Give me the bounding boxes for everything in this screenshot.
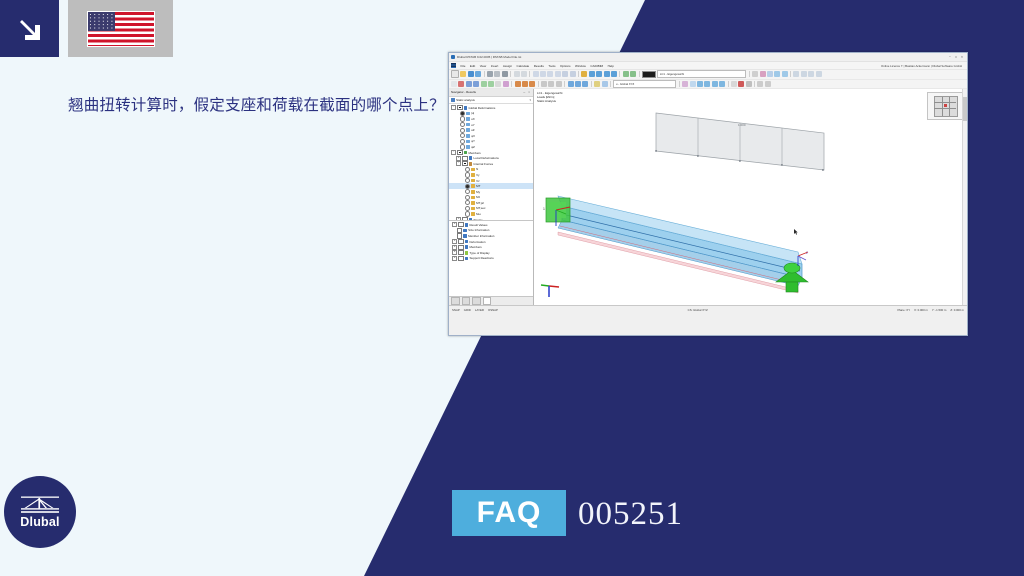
tree-checkbox[interactable] [457,105,462,110]
faq-badge: FAQ [452,490,566,536]
result-values-icon[interactable] [712,81,718,87]
scrollbar-thumb[interactable] [963,97,967,121]
minimize-button[interactable]: − [949,55,951,59]
status-toggle-osnap[interactable]: OSNAP [488,308,498,312]
expander-icon[interactable]: - [451,105,456,110]
result-icon [466,112,470,116]
navigator-title: Navigator - Results [451,90,476,94]
type-of-display-icon [465,251,469,255]
render-solid-icon[interactable] [623,71,629,77]
result-icon [471,196,475,200]
size-information-icon [463,229,467,233]
result-type-combo[interactable]: u - Global XYZ [613,80,676,88]
member-load-icon[interactable] [529,81,535,87]
view-iso-icon[interactable] [816,71,822,77]
save-as-icon[interactable] [475,71,481,77]
rstab-application-window[interactable]: Dlubal RSTAB 9.02.0005 | RSTAB Model Fil… [448,52,968,336]
result-icon [471,184,475,188]
license-info: Online Licence 'I' | Bastian Ackermann |… [881,64,965,68]
flag-canton [88,12,115,31]
views-navigator-tab[interactable] [472,297,481,305]
tree-checkbox[interactable] [458,239,463,244]
tree-item-label: φZ [471,145,475,149]
tree-item-label: Internal Forces [474,162,494,166]
display-item-support-reactions[interactable]: + Support Reactions [449,256,533,262]
tree-item-label: φY [471,139,475,143]
close-button[interactable]: × [961,55,963,59]
deformation-icon [465,240,469,244]
expander-icon[interactable]: + [452,250,457,255]
status-coord-z: Z: 0.000 m [950,308,964,312]
zoom-all-icon[interactable] [611,71,617,77]
arrow-down-right-icon [0,0,59,57]
display-item-label: Support Reactions [470,256,494,260]
menu-item-edit[interactable]: Edit [470,64,475,68]
tree-item-label: N [476,167,478,171]
view-side-icon[interactable] [808,71,814,77]
results-tree[interactable]: - Global Deformations |u| uX [449,104,533,220]
viewport-info-analysis: Static Analysis [537,99,562,103]
tree-item-label: uY [471,123,475,127]
tree-item-label: Global Deformations [469,106,496,110]
tree-checkbox[interactable] [458,250,463,255]
tree-item-label: Local Deformations [474,156,499,160]
load-case-combo[interactable]: LC1 - Eigengewicht [657,70,746,78]
result-icon [471,179,475,183]
tree-item-label: My [476,190,480,194]
results-navigator-panel[interactable]: Navigator - Results ⌐ × Static analysis … [449,89,534,305]
snap-icon[interactable] [568,81,574,87]
tree-item-label: |u| [471,111,474,115]
tree-item-label: uZ [471,128,474,132]
zoom-out-icon[interactable] [596,71,602,77]
member-information-icon [463,234,467,238]
surface-icon[interactable] [481,81,487,87]
support-reactions-icon [465,257,469,261]
result-icon [471,168,475,172]
results-scale-icon[interactable] [760,71,766,77]
question-headline: 翘曲扭转计算时，假定支座和荷载在截面的哪个点上？ [68,96,438,117]
project-navigator-tab[interactable] [451,297,460,305]
menu-item-calculate[interactable]: Calculate [517,64,530,68]
result-icon [471,201,475,205]
visibility-icon[interactable] [594,81,600,87]
result-icon [466,145,470,149]
faq-number: 005251 [578,491,683,537]
result-icon [471,190,475,194]
toolbar-primary[interactable]: LC1 - Eigengewicht [449,70,967,80]
tree-item-label: MT [476,184,480,188]
menu-item-tools[interactable]: Tools [548,64,555,68]
tree-item-label: Vy [476,173,479,177]
delete-icon[interactable] [738,81,744,87]
table-loads-icon[interactable] [562,71,568,77]
isolines-icon[interactable] [682,81,688,87]
tree-radio[interactable] [465,172,470,177]
expander-icon[interactable]: + [452,239,457,244]
analysis-type-icon [451,98,455,102]
status-coord-y: Y: -1.500 m [932,308,947,312]
open-icon[interactable] [460,71,466,77]
status-coordinate-system: CS: Global XYZ [688,308,708,312]
result-icon [471,207,475,211]
menu-item-results[interactable]: Results [534,64,544,68]
result-icon [471,212,475,216]
status-plane: Plane: XY [897,308,910,312]
result-icon [466,140,470,144]
display-properties-icon[interactable] [752,71,758,77]
dlubal-menu-icon [451,63,456,67]
results-navigator-tab[interactable] [483,297,492,305]
toolbar-secondary[interactable]: u - Global XYZ [449,80,967,90]
tree-checkbox[interactable] [457,228,462,233]
dimension-icon[interactable] [541,81,547,87]
tree-item-label: Members [469,151,481,155]
tree-radio[interactable] [465,211,470,216]
menu-item-cadbim[interactable]: CAD/BIM [590,64,603,68]
tree-item-label: Mω [476,212,481,216]
tree-radio[interactable] [460,144,465,149]
tree-checkbox[interactable] [457,150,462,155]
menu-item-view[interactable]: View [480,64,487,68]
line-icon[interactable] [466,81,472,87]
viewport-info-labels: LC1 - Eigengewicht Loads [kN/m] Static A… [537,91,562,104]
print-icon[interactable] [487,71,493,77]
axis-triad-icon [540,281,562,299]
support-icon[interactable] [503,81,509,87]
tree-item-label: Vz [476,179,479,183]
nodal-load-icon[interactable] [515,81,521,87]
view-cube-icon[interactable] [927,92,963,120]
tree-item-label: Mz [476,195,480,199]
internal-forces-icon [469,162,473,166]
navigator-header: Navigator - Results ⌐ × [449,89,533,97]
line-load-icon[interactable] [522,81,528,87]
print-preview-icon[interactable] [494,71,500,77]
deformation-icon[interactable] [774,71,780,77]
display-item-label: Type of Display [470,251,490,255]
ortho-icon[interactable] [575,81,581,87]
menu-item-insert[interactable]: Insert [491,64,499,68]
navigator-combo-chevron-down-icon[interactable]: ▾ [530,98,531,102]
display-item-label: Result Values [470,223,488,227]
local-deformation-icon [469,156,473,160]
view-top-icon[interactable] [801,71,807,77]
dlubal-logo-text: Dlubal [20,515,59,529]
expander-icon[interactable]: + [452,222,457,227]
status-toggle-layer[interactable]: LAYER [475,308,484,312]
max-min-icon[interactable] [719,81,725,87]
expander-icon[interactable]: + [456,156,461,161]
opening-icon[interactable] [495,81,501,87]
filter-icon[interactable] [767,71,773,77]
svg-text:1: 1 [543,207,545,211]
measure-icon[interactable] [548,81,554,87]
table-results-icon[interactable] [547,71,553,77]
result-values-icon [465,223,469,227]
text-note-icon[interactable] [556,81,562,87]
menu-item-window[interactable]: Window [575,64,586,68]
undo-icon[interactable] [514,71,520,77]
surface-model-graphic: 1.000 [654,107,829,192]
zoom-in-icon[interactable] [589,71,595,77]
smooth-results-icon[interactable] [704,81,710,87]
result-icon [466,117,470,121]
view-front-icon[interactable] [793,71,799,77]
tree-radio[interactable] [460,128,465,133]
display-item-label: Members [470,245,482,249]
tree-checkbox[interactable] [458,256,463,261]
navigator-pin-close-icons[interactable]: ⌐ × [524,90,531,94]
help-tool-icon[interactable] [765,81,771,87]
tree-radio[interactable] [460,116,465,121]
status-toggle-grid[interactable]: GRID [464,308,471,312]
beam-member-graphic: 1 2 [540,194,840,294]
svg-text:1.000: 1.000 [738,123,746,127]
result-icon [471,173,475,177]
navigator-tabs[interactable] [449,296,533,305]
dlubal-logo: Dlubal [4,476,76,548]
expander-icon[interactable]: - [451,150,456,155]
tree-item-label: φX [471,134,475,138]
maximize-button[interactable]: □ [955,55,957,59]
display-item-label: Deformation [470,240,486,244]
tree-checkbox[interactable] [458,222,463,227]
app-titlebar: Dlubal RSTAB 9.02.0005 | RSTAB Model Fil… [449,53,967,62]
tree-checkbox[interactable] [462,156,467,161]
result-icon [466,123,470,127]
grid-snap-icon[interactable] [582,81,588,87]
color-swatch[interactable] [642,71,656,78]
layer-icon[interactable] [602,81,608,87]
grid-table-icon[interactable] [533,71,539,77]
table-icon[interactable] [540,71,546,77]
menu-item-options[interactable]: Options [560,64,571,68]
section-cut-icon[interactable] [782,71,788,77]
select-icon[interactable] [451,81,457,87]
settings-icon[interactable] [757,81,763,87]
print-region-icon[interactable] [746,81,752,87]
display-item-label: Size Information [468,228,489,232]
tree-radio[interactable] [465,184,470,189]
render-wire-icon[interactable] [630,71,636,77]
faq-slide: 翘曲扭转计算时，假定支座和荷载在截面的哪个点上？ Dlubal FAQ 0052… [0,0,1024,576]
view-cube-line [934,102,956,103]
app-statusbar[interactable]: SNAP GRID LAYER OSNAP CS: Global XYZ Pla… [449,305,967,314]
result-icon [466,128,470,132]
viewport-vertical-scrollbar[interactable] [962,89,967,305]
expander-icon[interactable]: - [456,161,461,166]
calculate-icon[interactable] [581,71,587,77]
navigator-combo-label: Static analysis [456,98,475,102]
table-sections-icon[interactable] [555,71,561,77]
expander-icon[interactable]: + [452,256,457,261]
tree-item-label: MT,pri [476,201,484,205]
display-item-label: Member Information [468,234,494,238]
result-icon [466,134,470,138]
solid-icon[interactable] [488,81,494,87]
tree-checkbox[interactable] [462,161,467,166]
members-icon [465,245,469,249]
truss-frame-icon [21,496,59,513]
menu-item-file[interactable]: File [461,64,466,68]
redo-icon[interactable] [521,71,527,77]
tree-checkbox[interactable] [458,245,463,250]
expander-icon[interactable]: + [452,245,457,250]
status-coord-x: X: 0.000 m [914,308,928,312]
menu-item-help[interactable]: Help [608,64,614,68]
menu-item-assign[interactable]: Assign [503,64,512,68]
pointer-cursor-icon [794,229,798,235]
zoom-window-icon[interactable] [604,71,610,77]
save-icon[interactable] [468,71,474,77]
app-workarea: Navigator - Results ⌐ × Static analysis … [449,89,967,305]
display-navigator-tree[interactable]: + Result Values Size Information Member … [449,220,533,296]
faq-badge-label: FAQ [477,496,542,530]
flag-stars [89,13,114,30]
table-summary-icon[interactable] [570,71,576,77]
model-viewport-3d[interactable]: LC1 - Eigengewicht Loads [kN/m] Static A… [534,89,967,305]
app-menubar[interactable]: File Edit View Insert Assign Calculate R… [449,62,967,70]
tree-item-label: MT,sec [476,206,485,210]
display-navigator-tab[interactable] [462,297,471,305]
tree-item-label: uX [471,117,475,121]
flag-graphic [87,11,155,47]
member-icon[interactable] [473,81,479,87]
svg-text:2: 2 [806,251,808,255]
isobands-icon[interactable] [690,81,696,87]
app-title: Dlubal RSTAB 9.02.0005 | RSTAB Model Fil… [457,55,521,59]
new-icon[interactable] [451,70,459,78]
members-group-icon [464,151,468,155]
clipping-icon[interactable] [731,81,737,87]
tree-radio[interactable] [465,195,470,200]
printout-report-icon[interactable] [502,71,508,77]
node-icon[interactable] [458,81,464,87]
usa-flag-icon [68,0,173,57]
rfem-app-icon [451,55,455,59]
view-cube-line [934,108,956,109]
tree-checkbox[interactable] [457,233,462,238]
view-cube-marker [944,104,947,107]
result-diagram-icon[interactable] [697,81,703,87]
navigator-analysis-combo[interactable]: Static analysis ▾ [449,97,533,105]
deformation-group-icon [464,106,468,110]
status-toggle-snap[interactable]: SNAP [452,308,460,312]
